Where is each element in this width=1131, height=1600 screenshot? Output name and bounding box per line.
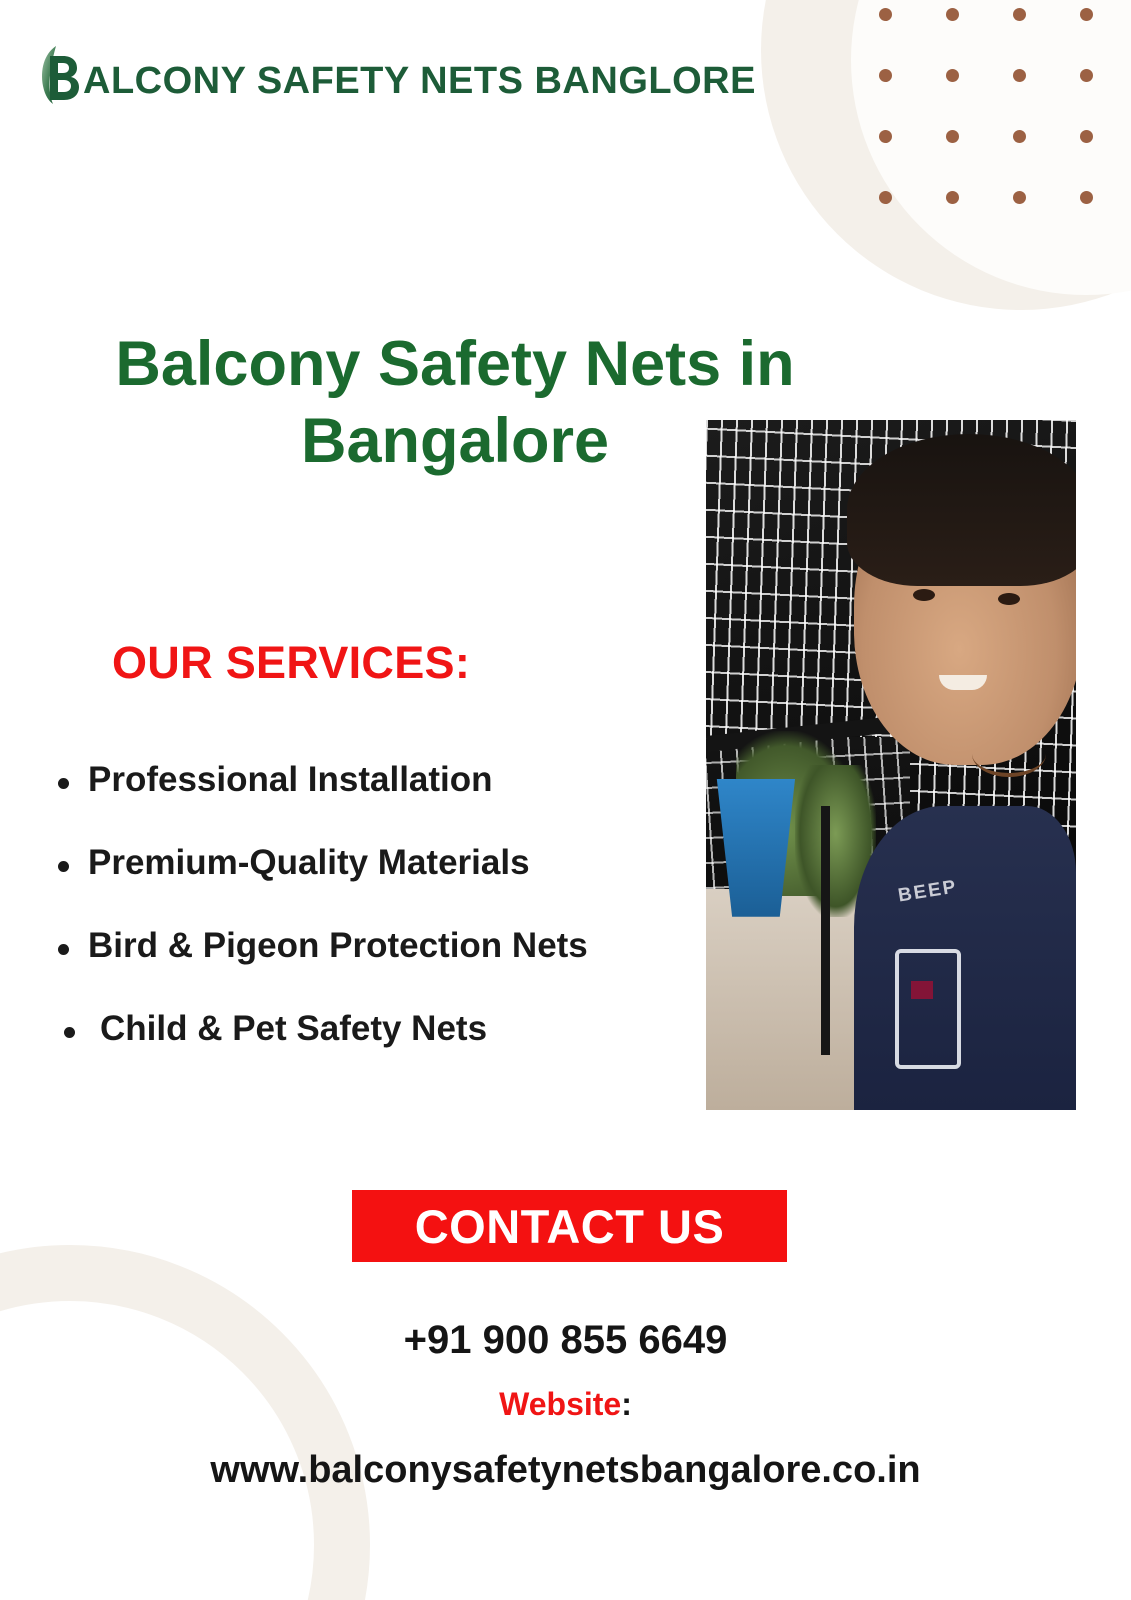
child-necklace [972,731,1046,777]
balcony-safety-net-photo: BEEP [706,420,1076,1110]
child-tshirt [854,806,1076,1110]
vertical-pole [821,806,830,1054]
phone-number[interactable]: +91 900 855 6649 [0,1318,1131,1363]
child-eye-right [998,593,1020,605]
dot [1080,69,1093,82]
poster-canvas: ALCONY SAFETY NETS BANGLORE Balcony Safe… [0,0,1131,1600]
list-item: Professional Installation [44,760,724,800]
dot [946,130,959,143]
list-item: Bird & Pigeon Protection Nets [44,926,724,966]
dot [879,191,892,204]
website-label-text: Website [499,1386,621,1422]
list-item: Premium-Quality Materials [44,843,724,883]
dot [946,69,959,82]
leaf-b-logo-icon [36,44,82,106]
dot [1013,8,1026,21]
website-label: Website: [0,1386,1131,1423]
tshirt-robot-graphic [895,949,961,1069]
services-heading: OUR SERVICES: [112,637,470,689]
decorative-dot-grid [879,8,1131,252]
dot [946,191,959,204]
services-list: Professional Installation Premium-Qualit… [44,760,724,1092]
brand-logo-text: ALCONY SAFETY NETS BANGLORE [83,62,756,100]
dot [1080,130,1093,143]
dot [1013,191,1026,204]
contact-us-label: CONTACT US [415,1199,725,1254]
dot [1080,191,1093,204]
dot [946,8,959,21]
list-item: Child & Pet Safety Nets [44,1009,724,1049]
dot [1080,8,1093,21]
page-title: Balcony Safety Nets in Bangalore [50,326,860,480]
dot [879,69,892,82]
website-url[interactable]: www.balconysafetynetsbangalore.co.in [0,1449,1131,1492]
dot [1013,69,1026,82]
website-label-colon: : [621,1386,632,1422]
contact-us-banner: CONTACT US [352,1190,787,1262]
child-hair [847,434,1076,586]
dot [879,8,892,21]
dot [1013,130,1026,143]
dot [879,130,892,143]
brand-logo: ALCONY SAFETY NETS BANGLORE [36,44,756,106]
